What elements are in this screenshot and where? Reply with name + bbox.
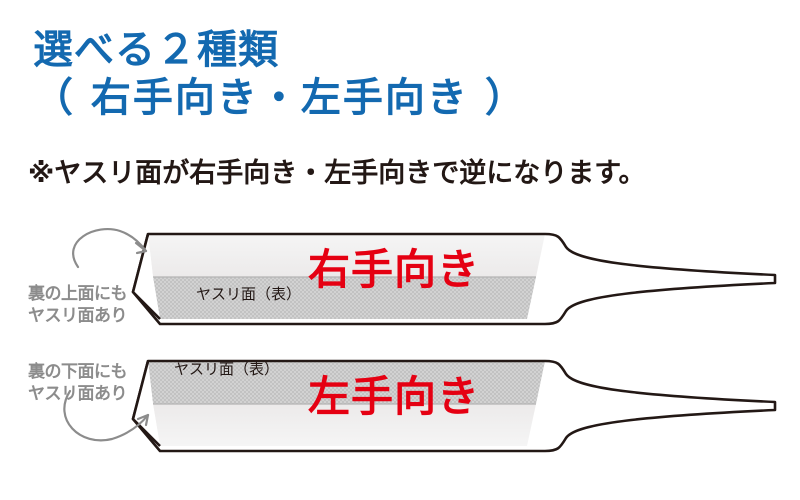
page-title: 選べる２種類 （ 右手向き・左手向き ）	[33, 26, 763, 122]
hand-orientation-label: 右手向き	[308, 248, 480, 292]
back-surface-caption-line-2: ヤスリ面あり	[28, 305, 127, 327]
tool-diagram-left-hand: 裏の下面にも ヤスリ面あり ヤスリ面（表） 左手向き	[0, 343, 800, 470]
back-surface-caption: 裏の下面にも ヤスリ面あり	[28, 361, 127, 405]
wrap-around-arrow-shaft	[73, 229, 146, 267]
hand-orientation-label: 左手向き	[308, 375, 480, 419]
tool-diagram-right-hand: 裏の上面にも ヤスリ面あり ヤスリ面（表） 右手向き	[0, 215, 800, 340]
back-surface-caption-line-2: ヤスリ面あり	[28, 383, 127, 405]
headline-line-2: （ 右手向き・左手向き ）	[33, 74, 763, 122]
back-surface-caption-line-1: 裏の上面にも	[28, 283, 127, 305]
headline-line-1: 選べる２種類	[33, 26, 763, 74]
front-surface-label: ヤスリ面（表）	[174, 358, 279, 379]
back-surface-caption: 裏の上面にも ヤスリ面あり	[28, 283, 127, 327]
note-text: ※ヤスリ面が右手向き・左手向きで逆になります。	[28, 157, 646, 191]
back-surface-caption-line-1: 裏の下面にも	[28, 361, 127, 383]
front-surface-label: ヤスリ面（表）	[196, 283, 301, 304]
